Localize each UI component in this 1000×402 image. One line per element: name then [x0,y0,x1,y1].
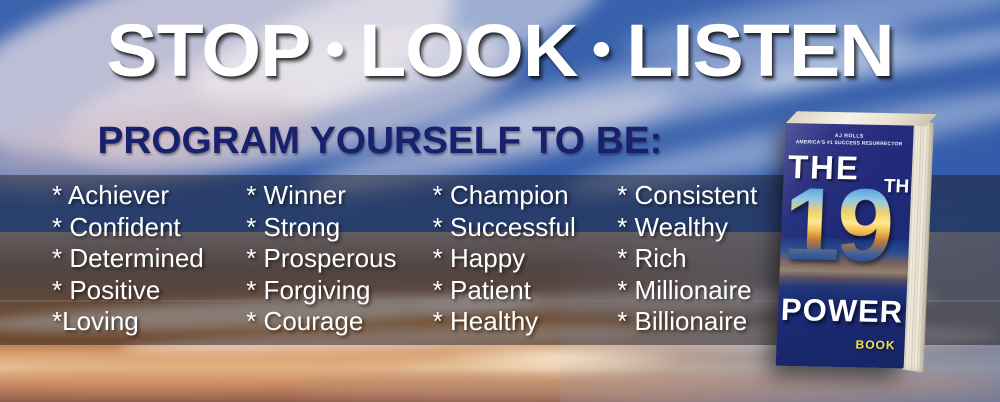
book-author-block: AJ ROLLS AMERICA'S #1 SUCCESS RESURRECTO… [785,132,914,149]
list-item: * Determined [52,243,246,275]
affirmation-column: * Winner * Strong * Prosperous * Forgivi… [246,180,432,340]
list-item: * Winner [246,180,432,212]
list-item: * Happy [433,243,618,275]
list-item: *Loving [52,306,246,338]
list-item: * Consistent [617,180,792,212]
list-item: * Successful [433,212,618,244]
list-item: * Confident [52,212,246,244]
list-item: * Prosperous [246,243,432,275]
book-title-power: POWER [780,294,905,328]
headline-separator-dot-icon [327,42,343,57]
list-item: * Champion [433,180,618,212]
headline-word-look: LOOK [359,14,577,88]
list-item: * Millionaire [617,275,792,307]
affirmation-list: * Achiever * Confident * Determined * Po… [52,180,792,340]
book-cover-image[interactable]: AJ ROLLS AMERICA'S #1 SUCCESS RESURRECTO… [778,112,958,374]
list-item: * Strong [246,212,432,244]
headline-word-stop: STOP [106,14,310,88]
list-item: * Rich [617,243,792,275]
list-item: * Courage [246,306,432,338]
list-item: * Forgiving [246,275,432,307]
list-item: * Achiever [52,180,246,212]
book-title-number: 19 [781,166,892,283]
book-front-cover: AJ ROLLS AMERICA'S #1 SUCCESS RESURRECTO… [776,118,914,368]
promotional-banner: STOPLOOKLISTEN PROGRAM YOURSELF TO BE: *… [0,0,1000,402]
list-item: * Healthy [433,306,618,338]
list-item: * Patient [433,275,618,307]
book-3d: AJ ROLLS AMERICA'S #1 SUCCESS RESURRECTO… [776,118,914,368]
book-label: BOOK [855,337,896,352]
subheadline: PROGRAM YOURSELF TO BE: [0,122,768,160]
list-item: * Positive [52,275,246,307]
list-item: * Billionaire [617,306,792,338]
affirmation-column: * Champion * Successful * Happy * Patien… [433,180,618,340]
headline: STOPLOOKLISTEN [0,14,1000,88]
book-title-ordinal: TH [883,176,909,199]
affirmation-column: * Consistent * Wealthy * Rich * Milliona… [617,180,792,340]
headline-separator-dot-icon [594,42,610,57]
list-item: * Wealthy [617,212,792,244]
affirmation-column: * Achiever * Confident * Determined * Po… [52,180,246,340]
headline-word-listen: LISTEN [626,14,893,88]
